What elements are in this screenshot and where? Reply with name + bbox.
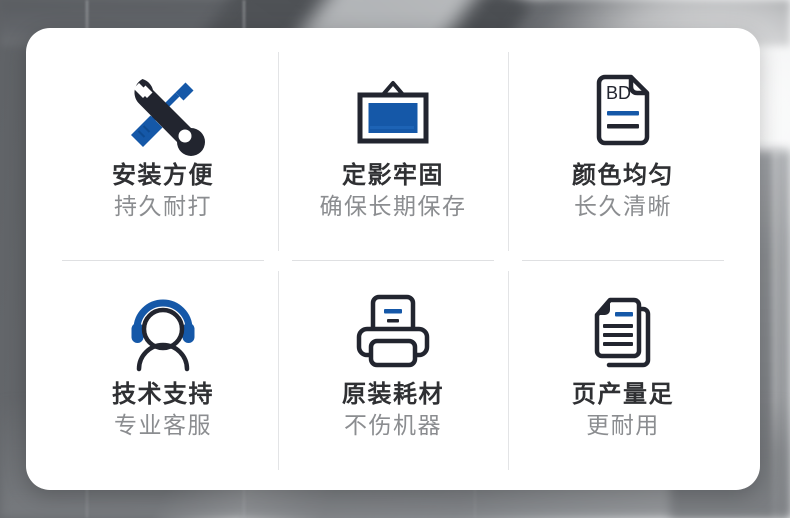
- wrench-screwdriver-icon: [117, 64, 209, 160]
- bd-badge-text: BD: [606, 83, 631, 103]
- feature-item-color: BD 颜色均匀 长久清晰: [508, 42, 738, 261]
- bd-document-icon: BD: [577, 64, 669, 160]
- feature-subtitle: 长久清晰: [574, 192, 672, 220]
- feature-subtitle: 确保长期保存: [320, 192, 467, 220]
- feature-subtitle: 专业客服: [114, 411, 212, 439]
- feature-grid: 安装方便 持久耐打 定影牢固 确保长期保存: [26, 28, 760, 490]
- picture-frame-icon: [347, 64, 439, 160]
- printer-icon: [345, 283, 441, 379]
- stacked-documents-icon: [577, 283, 669, 379]
- screenshot-stage: 安装方便 持久耐打 定影牢固 确保长期保存: [0, 0, 790, 518]
- feature-card: 安装方便 持久耐打 定影牢固 确保长期保存: [26, 28, 760, 490]
- feature-subtitle: 更耐用: [586, 411, 660, 439]
- feature-item-installation: 安装方便 持久耐打: [48, 42, 278, 261]
- feature-title: 原装耗材: [342, 381, 444, 409]
- headset-support-icon: [117, 283, 209, 379]
- feature-subtitle: 不伤机器: [344, 411, 442, 439]
- feature-item-consumables: 原装耗材 不伤机器: [278, 261, 508, 480]
- feature-title: 技术支持: [112, 381, 214, 409]
- feature-title: 安装方便: [112, 162, 214, 190]
- feature-subtitle: 持久耐打: [114, 192, 212, 220]
- feature-item-support: 技术支持 专业客服: [48, 261, 278, 480]
- feature-title: 页产量足: [572, 381, 674, 409]
- feature-title: 颜色均匀: [572, 162, 674, 190]
- feature-title: 定影牢固: [342, 162, 444, 190]
- feature-item-fixing: 定影牢固 确保长期保存: [278, 42, 508, 261]
- feature-item-yield: 页产量足 更耐用: [508, 261, 738, 480]
